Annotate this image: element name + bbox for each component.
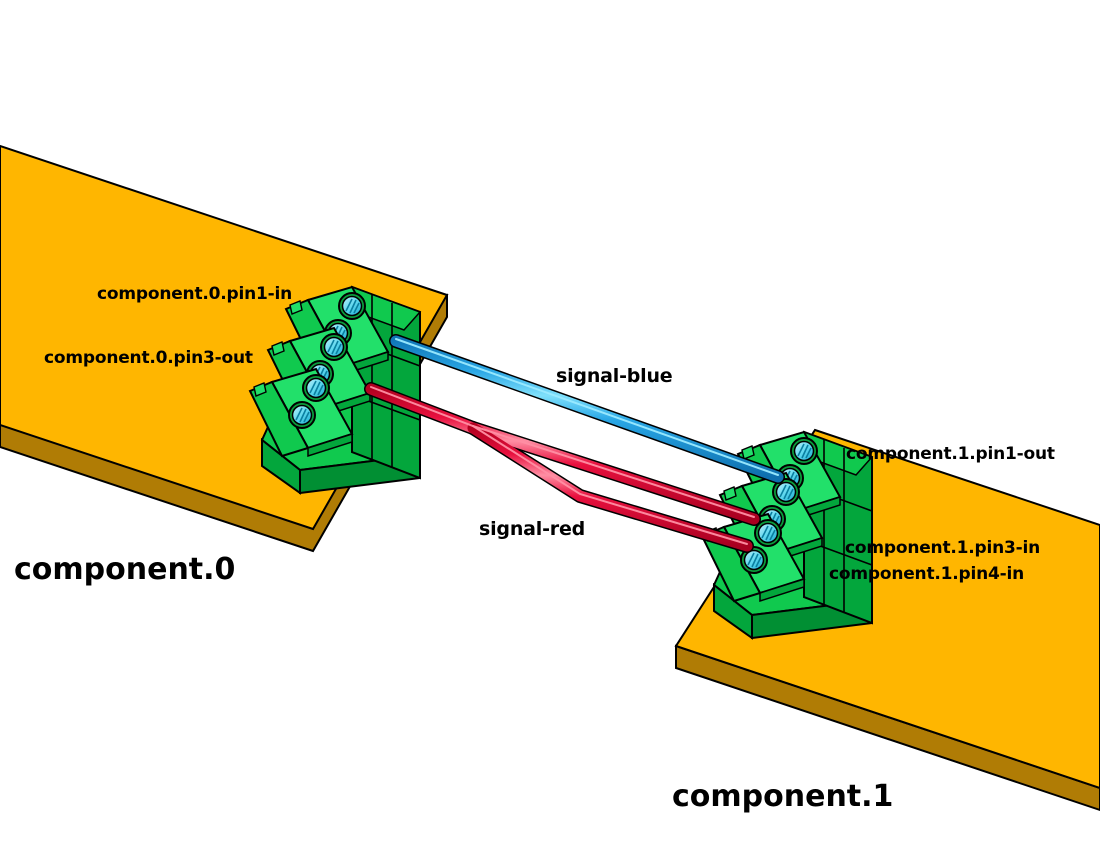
pin-label-component-0-pin3-out: component.0.pin3-out: [44, 348, 253, 368]
pin-label-component-1-pin3-in: component.1.pin3-in: [845, 538, 1040, 558]
signal-label-signal-blue: signal-blue: [556, 365, 673, 387]
wire-signal-blue[interactable]: [396, 339, 778, 477]
board-label-component-1: component.1: [672, 779, 893, 814]
wire-blue-highlight: [396, 339, 778, 475]
diagram-canvas: component.0.pin1-in component.0.pin3-out…: [0, 0, 1100, 850]
signal-label-signal-red: signal-red: [479, 518, 585, 540]
wire-blue[interactable]: [396, 341, 778, 477]
pin-label-component-1-pin1-out: component.1.pin1-out: [846, 444, 1055, 464]
pin-label-component-1-pin4-in: component.1.pin4-in: [829, 564, 1024, 584]
wiring-scene: [0, 0, 1100, 850]
pin-label-component-0-pin1-in: component.0.pin1-in: [97, 284, 292, 304]
board-label-component-0: component.0: [14, 552, 235, 587]
